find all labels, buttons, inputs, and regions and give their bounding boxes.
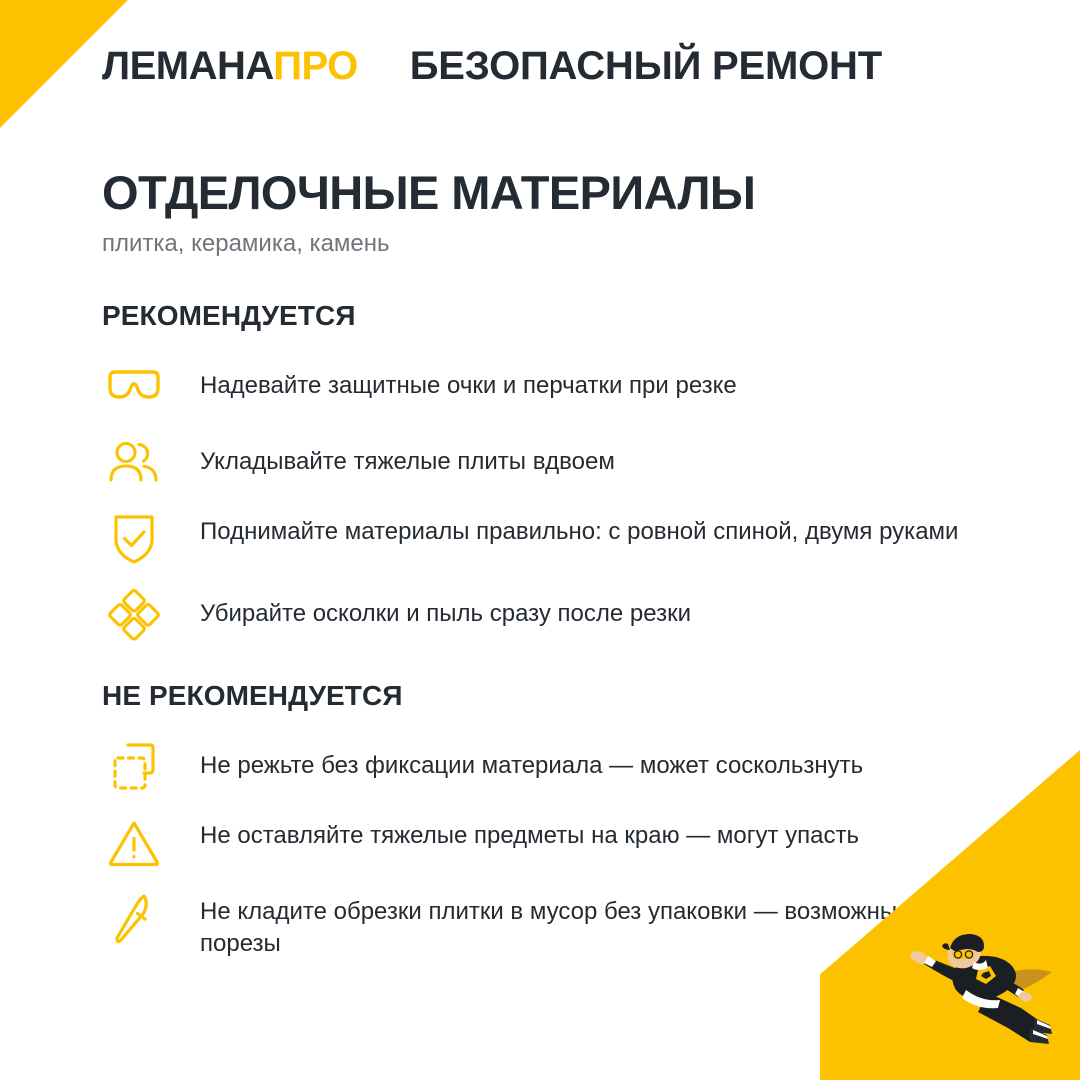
section-recommended-title: РЕКОМЕНДУЕТСЯ [102,300,982,332]
shield-check-icon [102,512,166,566]
section-not-recommended-title: НЕ РЕКОМЕНДУЕТСЯ [102,680,982,712]
list-item: Надевайте защитные очки и перчатки при р… [102,360,982,414]
poster: ЛЕМАНАПРО БЕЗОПАСНЫЙ РЕМОНТ ОТДЕЛОЧНЫЕ М… [0,0,1080,1080]
section-recommended: РЕКОМЕНДУЕТСЯ Надевайте защитные очки и … [102,300,982,664]
list-item-text: Убирайте осколки и пыль сразу после резк… [200,588,691,630]
recommended-list: Надевайте защитные очки и перчатки при р… [102,360,982,642]
safety-goggles-icon [102,360,166,414]
unfixed-frame-icon [102,740,166,794]
bottom-right-corner-decoration [820,750,1080,1080]
list-item-text: Укладывайте тяжелые плиты вдвоем [200,436,615,478]
two-people-icon [102,436,166,490]
warning-triangle-icon [102,816,166,870]
list-item: Укладывайте тяжелые плиты вдвоем [102,436,982,490]
list-item-text: Надевайте защитные очки и перчатки при р… [200,360,737,402]
mascot-flying-superhero [900,922,1070,1052]
list-item-text: Поднимайте материалы правильно: с ровной… [200,512,958,548]
page-subtitle: плитка, керамика, камень [102,230,390,258]
page-title: ОТДЕЛОЧНЫЕ МАТЕРИАЛЫ [102,168,755,217]
list-item-text: Не режьте без фиксации материала — может… [200,740,863,782]
list-item: Убирайте осколки и пыль сразу после резк… [102,588,982,642]
list-item: Поднимайте материалы правильно: с ровной… [102,512,982,566]
diamond-cluster-icon [102,588,166,642]
header: ЛЕМАНАПРО БЕЗОПАСНЫЙ РЕМОНТ [102,44,882,89]
header-tagline: БЕЗОПАСНЫЙ РЕМОНТ [410,44,882,89]
brand-logo-pro: ПРО [273,44,358,88]
brand-logo: ЛЕМАНАПРО [102,44,358,89]
knife-blade-icon [102,892,166,946]
brand-logo-main: ЛЕМАНА [102,44,273,88]
list-item-text: Не оставляйте тяжелые предметы на краю —… [200,816,859,852]
